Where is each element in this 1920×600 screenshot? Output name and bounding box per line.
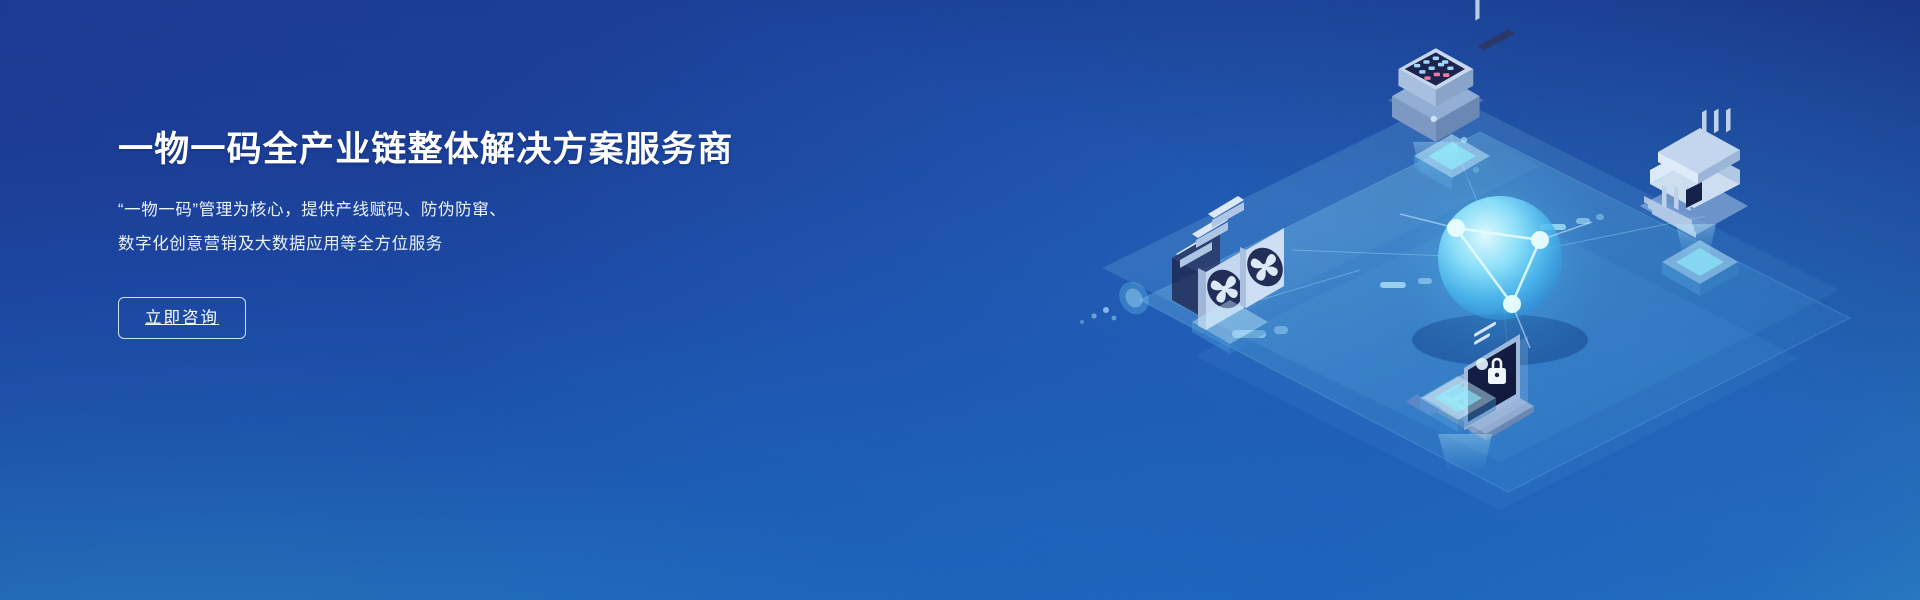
hero-copy-block: 一物一码全产业链整体解决方案服务商 “一物一码”管理为核心，提供产线赋码、防伪防… bbox=[118, 128, 738, 339]
consult-now-button[interactable]: 立即咨询 bbox=[118, 297, 246, 339]
page-title: 一物一码全产业链整体解决方案服务商 bbox=[118, 128, 738, 172]
hero-subtitle-line-1: “一物一码”管理为核心，提供产线赋码、防伪防窜、 bbox=[118, 194, 738, 228]
hero-banner: 一物一码全产业链整体解决方案服务商 “一物一码”管理为核心，提供产线赋码、防伪防… bbox=[0, 0, 1920, 600]
hero-illustration bbox=[840, 0, 1920, 600]
hero-subtitle-line-2: 数字化创意营销及大数据应用等全方位服务 bbox=[118, 228, 738, 262]
